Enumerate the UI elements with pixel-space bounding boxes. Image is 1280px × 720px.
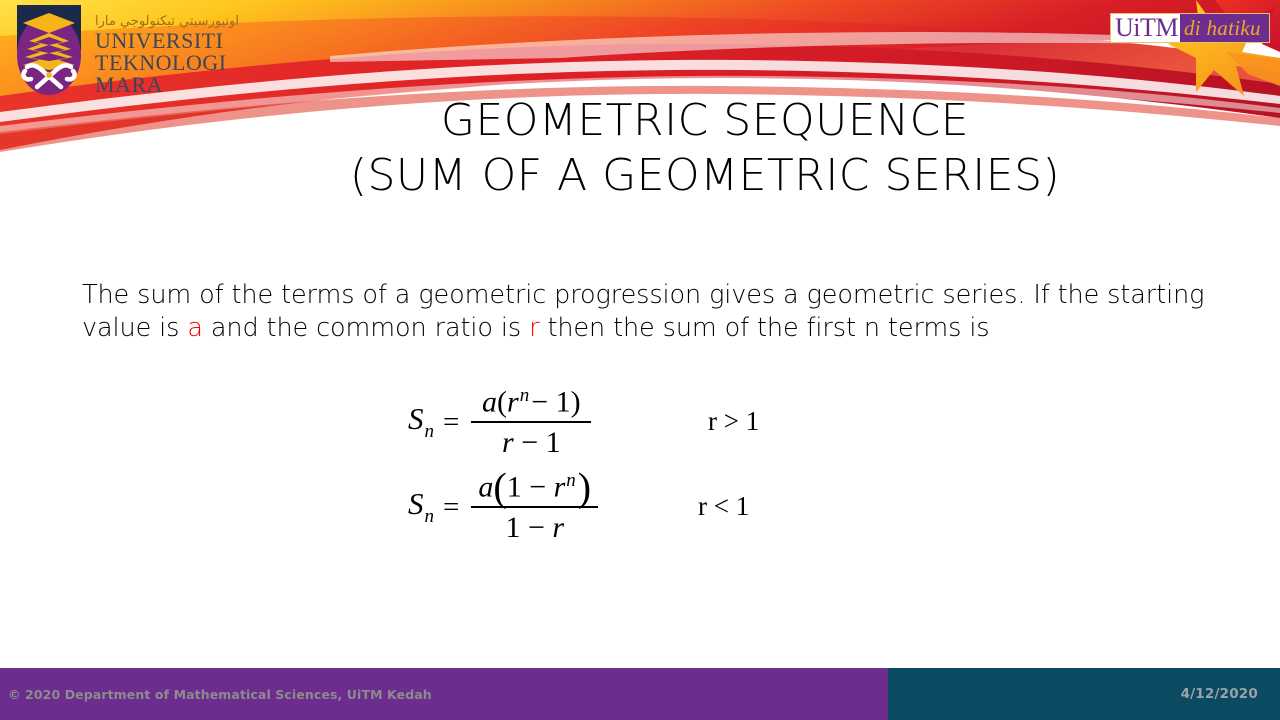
formula-1-lhs: Sn: [408, 401, 434, 442]
highlight-r: r: [529, 313, 539, 343]
university-line-3: MARA: [95, 72, 163, 97]
formula-1-condition: r > 1: [708, 406, 759, 437]
formula-1-fraction: a(rn− 1) r − 1: [471, 386, 591, 458]
formula-1-numerator: a(rn− 1): [475, 386, 588, 421]
uitm-crest-logo: [13, 5, 85, 97]
formula-sum-r-greater-than-1: Sn = a(rn− 1) r − 1: [408, 386, 591, 458]
footer-date: 4/12/2020: [1181, 686, 1258, 702]
formula-2-equals: =: [443, 491, 459, 524]
page-title: GEOMETRIC SEQUENCE (SUM OF A GEOMETRIC S…: [200, 92, 1210, 204]
arabic-jawi-script: اونيورسيتي تيكنولوجي مارا: [95, 14, 239, 29]
footer-copyright: © 2020 Department of Mathematical Scienc…: [8, 687, 432, 702]
formula-2-numerator: a(1 − rn): [471, 471, 598, 506]
formula-2-condition: r < 1: [698, 491, 749, 522]
formula-sum-r-less-than-1: Sn = a(1 − rn) 1 − r: [408, 471, 598, 543]
formula-group: Sn = a(rn− 1) r − 1 r > 1 Sn = a(1 − rn)…: [0, 386, 1280, 566]
formula-1-equals: =: [443, 406, 459, 439]
slide-canvas: اونيورسيتي تيكنولوجي مارا UNIVERSITI TEK…: [0, 0, 1280, 720]
body-part-2: and the common ratio is: [203, 313, 529, 343]
title-line-1: GEOMETRIC SEQUENCE: [200, 92, 1210, 149]
footer-right-bar: 4/12/2020: [888, 668, 1280, 720]
formula-2-lhs: Sn: [408, 486, 434, 527]
formula-2-denominator: 1 − r: [498, 508, 571, 543]
body-paragraph: The sum of the terms of a geometric prog…: [82, 279, 1207, 345]
slide-footer: © 2020 Department of Mathematical Scienc…: [0, 668, 1280, 720]
uitm-tagline: di hatiku: [1180, 14, 1269, 42]
title-line-2: (SUM OF A GEOMETRIC SERIES): [200, 147, 1210, 204]
uitm-di-hatiku-badge: UiTM di hatiku: [1110, 13, 1270, 43]
highlight-a: a: [187, 313, 203, 343]
formula-1-denominator: r − 1: [495, 423, 568, 458]
university-wordmark: اونيورسيتي تيكنولوجي مارا UNIVERSITI TEK…: [93, 8, 313, 100]
body-part-3: then the sum of the first n terms is: [539, 313, 989, 343]
footer-left-bar: © 2020 Department of Mathematical Scienc…: [0, 668, 888, 720]
uitm-logo-mark: UiTM: [1111, 14, 1180, 42]
formula-2-fraction: a(1 − rn) 1 − r: [471, 471, 598, 543]
